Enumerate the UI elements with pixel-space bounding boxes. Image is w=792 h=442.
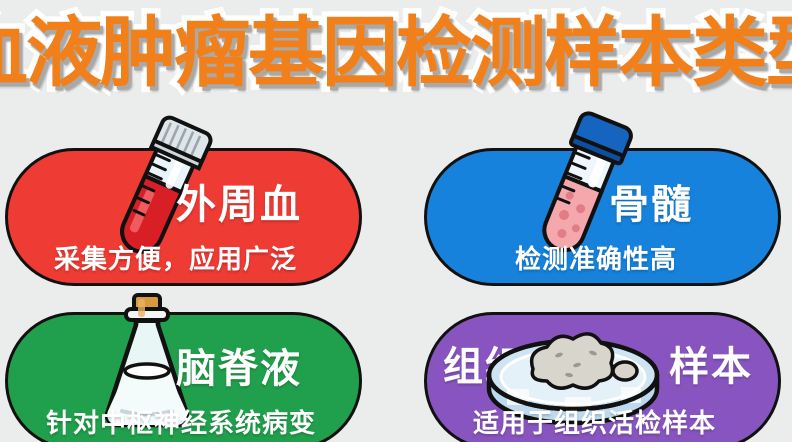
card-bone-marrow[interactable]: 骨髓 检测准确性高 [424,148,781,286]
card-label-bone-marrow: 骨髓 [609,185,693,225]
infographic-canvas: 血液肿瘤基因检测样本类型 [0,0,792,442]
card-label-tissue-part2: 样本 [669,347,753,387]
card-subtitle-cerebrospinal-fluid: 针对中枢神经系统病变 [46,411,316,437]
card-label-peripheral-blood: 外周血 [176,185,302,225]
card-peripheral-blood[interactable]: 外周血 采集方便，应用广泛 [5,148,362,286]
card-subtitle-bone-marrow: 检测准确性高 [515,247,677,273]
card-subtitle-tissue-sample: 适用于组织活检样本 [473,411,716,437]
card-tissue-sample[interactable]: 组织 [424,312,781,442]
page-title: 血液肿瘤基因检测样本类型 [0,15,792,91]
title-banner: 血液肿瘤基因检测样本类型 [0,0,792,112]
card-label-cerebrospinal-fluid: 脑脊液 [176,349,302,389]
card-cerebrospinal-fluid[interactable]: 脑脊液 针对中枢神经系统病变 [5,312,362,442]
card-subtitle-peripheral-blood: 采集方便，应用广泛 [54,247,297,273]
